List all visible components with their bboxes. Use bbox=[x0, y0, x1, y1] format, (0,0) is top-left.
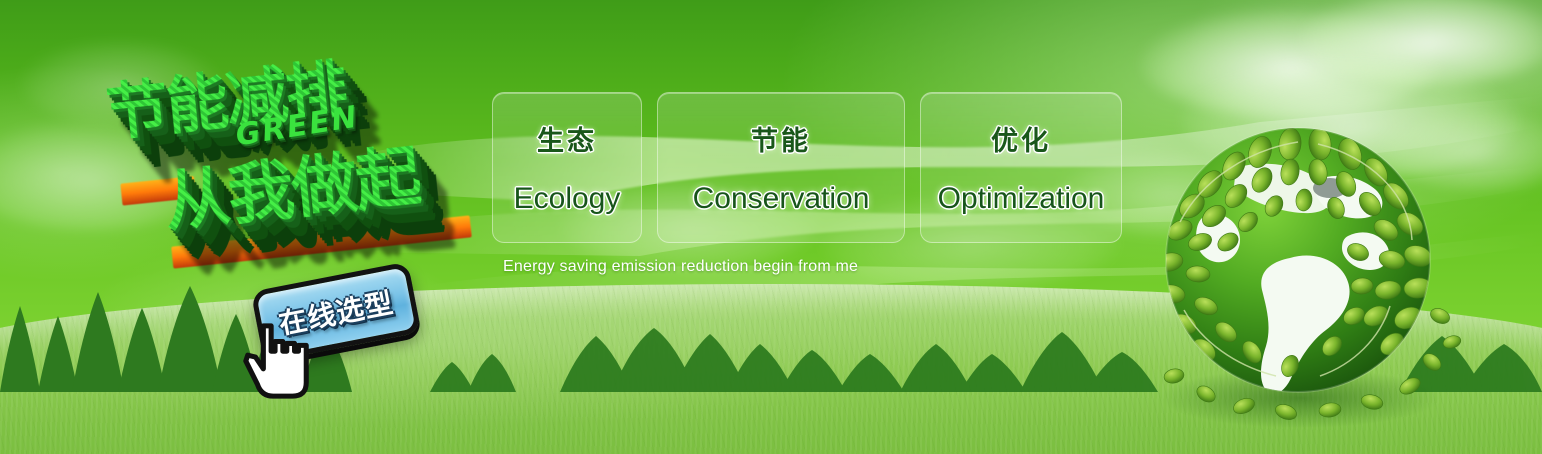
feature-card-optimization[interactable]: 优化 Optimization bbox=[920, 92, 1122, 243]
feature-card-en-label: Conservation bbox=[693, 182, 870, 216]
feature-card-cn-label: 生态 bbox=[537, 119, 597, 158]
feature-card-cn-label: 优化 bbox=[991, 119, 1051, 158]
headline-3d-artwork: 节能减排 GREEN 从我做起 bbox=[87, 19, 489, 287]
cloud-icon bbox=[1300, 0, 1542, 85]
leafy-earth-globe-icon bbox=[1140, 110, 1470, 440]
feature-card-cn-label: 节能 bbox=[751, 119, 811, 158]
feature-card-ecology[interactable]: 生态 Ecology bbox=[492, 92, 642, 243]
feature-card-en-label: Ecology bbox=[514, 182, 621, 216]
banner-tagline: Energy saving emission reduction begin f… bbox=[503, 258, 858, 276]
cloud-icon bbox=[1140, 8, 1440, 118]
feature-card-strip: 生态 Ecology 节能 Conservation 优化 Optimizati… bbox=[492, 92, 1122, 243]
feature-card-en-label: Optimization bbox=[938, 182, 1105, 216]
feature-card-conservation[interactable]: 节能 Conservation bbox=[657, 92, 905, 243]
eco-promo-banner: 节能减排 GREEN 从我做起 在线选型 生态 Ecology 节能 Conse… bbox=[0, 0, 1542, 454]
pointing-hand-cursor-icon bbox=[238, 318, 316, 404]
